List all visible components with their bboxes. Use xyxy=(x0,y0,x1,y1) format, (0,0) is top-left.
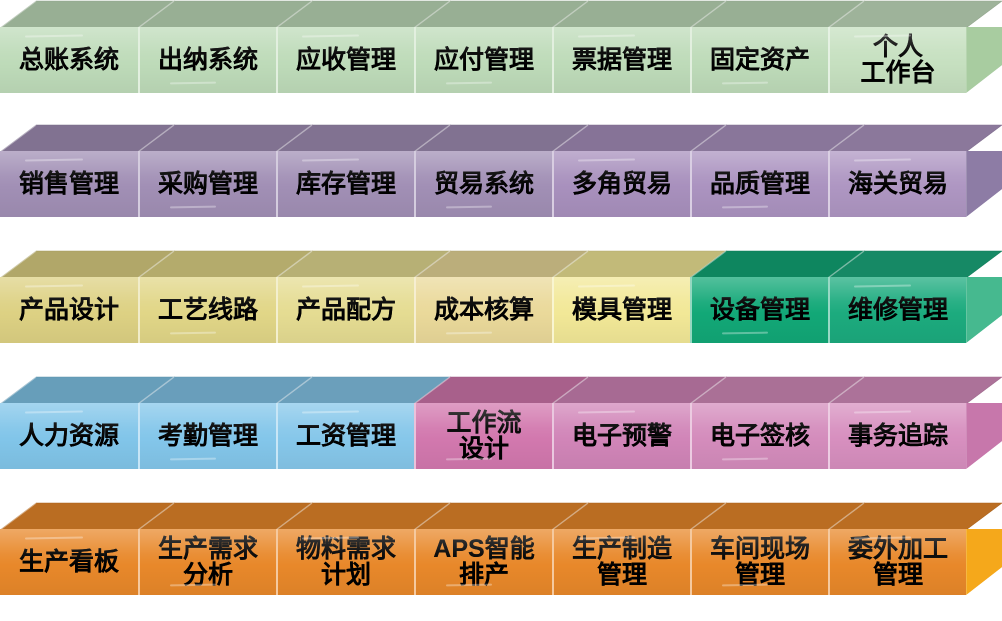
module-label: 生产需求 分析 xyxy=(156,536,260,588)
module-block[interactable]: 维修管理 xyxy=(828,277,966,343)
module-label: 贸易系统 xyxy=(432,171,536,197)
scuff-mark xyxy=(578,284,635,287)
row-front-face: 生产看板生产需求 分析物料需求 计划APS智能 排产生产制造 管理车间现场 管理… xyxy=(0,529,966,595)
module-block[interactable]: 生产需求 分析 xyxy=(138,529,276,595)
module-label: 产品设计 xyxy=(17,297,121,323)
scuff-mark xyxy=(170,331,216,334)
scuff-mark xyxy=(25,536,83,539)
module-label: 应付管理 xyxy=(432,47,536,73)
module-block[interactable]: 品质管理 xyxy=(690,151,828,217)
module-label: 品质管理 xyxy=(708,171,812,197)
module-row-4: 人力资源考勤管理工资管理工作流 设计电子预警电子签核事务追踪 xyxy=(0,376,1002,474)
module-block[interactable]: 个人 工作台 xyxy=(828,27,966,93)
scuff-mark xyxy=(722,331,768,334)
module-label: 工艺线路 xyxy=(156,297,260,323)
module-label: 个人 工作台 xyxy=(858,34,937,86)
module-block[interactable]: 海关贸易 xyxy=(828,151,966,217)
module-label: 物料需求 计划 xyxy=(294,536,398,588)
scuff-mark xyxy=(722,81,768,84)
module-block[interactable]: 应付管理 xyxy=(414,27,552,93)
row-top-face xyxy=(0,250,1002,280)
module-label: 库存管理 xyxy=(294,171,398,197)
module-block[interactable]: 库存管理 xyxy=(276,151,414,217)
row-top-face xyxy=(0,0,1002,30)
module-label: 工作流 设计 xyxy=(444,410,523,462)
scuff-mark xyxy=(722,205,768,208)
module-label: 人力资源 xyxy=(17,423,121,449)
module-block[interactable]: 工资管理 xyxy=(276,403,414,469)
module-label: 考勤管理 xyxy=(156,423,260,449)
scuff-mark xyxy=(170,81,216,84)
scuff-mark xyxy=(578,158,635,161)
scuff-mark xyxy=(446,331,492,334)
scuff-mark xyxy=(578,34,635,37)
module-block[interactable]: 人力资源 xyxy=(0,403,138,469)
module-block[interactable]: 应收管理 xyxy=(276,27,414,93)
module-block[interactable]: 工艺线路 xyxy=(138,277,276,343)
module-block[interactable]: 考勤管理 xyxy=(138,403,276,469)
row-front-face: 总账系统出纳系统应收管理应付管理票据管理固定资产个人 工作台 xyxy=(0,27,966,93)
module-label: 多角贸易 xyxy=(570,171,674,197)
row-top-face xyxy=(0,376,1002,406)
module-block[interactable]: 设备管理 xyxy=(690,277,828,343)
scuff-mark xyxy=(302,410,359,413)
scuff-mark xyxy=(25,34,83,37)
row-top-face xyxy=(0,502,1002,532)
scuff-mark xyxy=(578,410,635,413)
module-block[interactable]: 物料需求 计划 xyxy=(276,529,414,595)
scuff-mark xyxy=(854,284,911,287)
module-block[interactable]: 多角贸易 xyxy=(552,151,690,217)
scuff-mark xyxy=(854,158,911,161)
module-block[interactable]: 工作流 设计 xyxy=(414,403,552,469)
module-label: 模具管理 xyxy=(570,297,674,323)
module-label: 票据管理 xyxy=(570,47,674,73)
module-label: 产品配方 xyxy=(294,297,398,323)
module-block[interactable]: 生产看板 xyxy=(0,529,138,595)
row-side-face xyxy=(966,151,1002,217)
row-front-face: 产品设计工艺线路产品配方成本核算模具管理设备管理维修管理 xyxy=(0,277,966,343)
module-row-5: 生产看板生产需求 分析物料需求 计划APS智能 排产生产制造 管理车间现场 管理… xyxy=(0,502,1002,600)
module-label: 车间现场 管理 xyxy=(708,536,812,588)
scuff-mark xyxy=(25,158,83,161)
module-label: 维修管理 xyxy=(846,297,950,323)
module-block[interactable]: 票据管理 xyxy=(552,27,690,93)
module-block[interactable]: 电子预警 xyxy=(552,403,690,469)
module-label: 销售管理 xyxy=(17,171,121,197)
module-label: 固定资产 xyxy=(708,47,812,73)
scuff-mark xyxy=(302,34,359,37)
module-label: APS智能 排产 xyxy=(431,536,536,588)
scuff-mark xyxy=(722,457,768,460)
scuff-mark xyxy=(302,284,359,287)
row-side-face xyxy=(966,27,1002,93)
module-block[interactable]: 生产制造 管理 xyxy=(552,529,690,595)
module-label: 海关贸易 xyxy=(846,171,950,197)
scuff-mark xyxy=(302,158,359,161)
scuff-mark xyxy=(446,205,492,208)
module-block[interactable]: 电子签核 xyxy=(690,403,828,469)
module-matrix-diagram: 总账系统出纳系统应收管理应付管理票据管理固定资产个人 工作台销售管理采购管理库存… xyxy=(0,0,1002,621)
module-block[interactable]: 出纳系统 xyxy=(138,27,276,93)
module-label: 生产制造 管理 xyxy=(570,536,674,588)
module-block[interactable]: 车间现场 管理 xyxy=(690,529,828,595)
row-side-face xyxy=(966,277,1002,343)
module-label: 电子签核 xyxy=(708,423,812,449)
row-side-face xyxy=(966,403,1002,469)
row-front-face: 人力资源考勤管理工资管理工作流 设计电子预警电子签核事务追踪 xyxy=(0,403,966,469)
module-block[interactable]: 总账系统 xyxy=(0,27,138,93)
scuff-mark xyxy=(25,284,83,287)
module-block[interactable]: 事务追踪 xyxy=(828,403,966,469)
scuff-mark xyxy=(854,410,911,413)
module-label: 出纳系统 xyxy=(156,47,260,73)
module-label: 委外加工 管理 xyxy=(846,536,950,588)
scuff-mark xyxy=(170,205,216,208)
module-block[interactable]: 产品配方 xyxy=(276,277,414,343)
row-top-face xyxy=(0,124,1002,154)
module-block[interactable]: 贸易系统 xyxy=(414,151,552,217)
module-label: 设备管理 xyxy=(708,297,812,323)
module-row-1: 总账系统出纳系统应收管理应付管理票据管理固定资产个人 工作台 xyxy=(0,0,1002,98)
module-label: 应收管理 xyxy=(294,47,398,73)
module-block[interactable]: 产品设计 xyxy=(0,277,138,343)
scuff-mark xyxy=(25,410,83,413)
module-label: 工资管理 xyxy=(294,423,398,449)
row-front-face: 销售管理采购管理库存管理贸易系统多角贸易品质管理海关贸易 xyxy=(0,151,966,217)
module-block[interactable]: 委外加工 管理 xyxy=(828,529,966,595)
module-label: 总账系统 xyxy=(17,47,121,73)
scuff-mark xyxy=(170,457,216,460)
module-row-2: 销售管理采购管理库存管理贸易系统多角贸易品质管理海关贸易 xyxy=(0,124,1002,222)
module-block[interactable]: 销售管理 xyxy=(0,151,138,217)
module-label: 电子预警 xyxy=(570,423,674,449)
module-label: 事务追踪 xyxy=(846,423,950,449)
row-side-face xyxy=(966,529,1002,595)
module-block[interactable]: 固定资产 xyxy=(690,27,828,93)
module-row-3: 产品设计工艺线路产品配方成本核算模具管理设备管理维修管理 xyxy=(0,250,1002,348)
module-label: 采购管理 xyxy=(156,171,260,197)
module-label: 生产看板 xyxy=(17,549,121,575)
module-block[interactable]: 采购管理 xyxy=(138,151,276,217)
scuff-mark xyxy=(446,81,492,84)
module-block[interactable]: 模具管理 xyxy=(552,277,690,343)
module-block[interactable]: 成本核算 xyxy=(414,277,552,343)
module-block[interactable]: APS智能 排产 xyxy=(414,529,552,595)
module-label: 成本核算 xyxy=(432,297,536,323)
